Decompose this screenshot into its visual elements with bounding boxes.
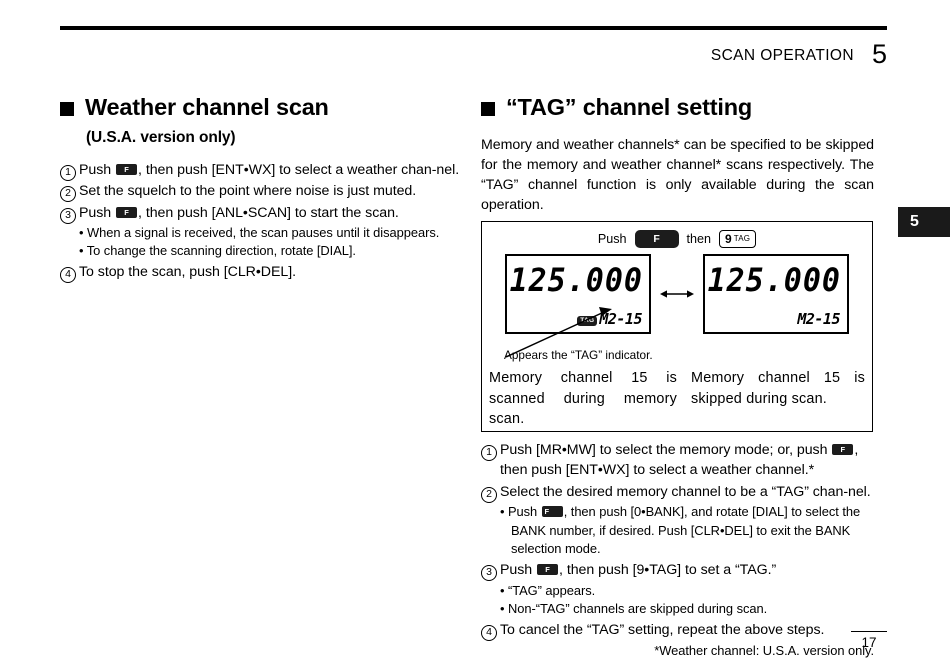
step-number: 1	[60, 162, 79, 182]
left-section-heading: Weather channel scan	[60, 95, 460, 121]
function-key-icon: F	[542, 506, 563, 517]
bullet-text-before: • Push	[500, 504, 541, 519]
page-header: SCAN OPERATION 5	[60, 38, 887, 65]
left-step-list: 1 Push F, then push [ENT•WX] to select a…	[60, 160, 460, 283]
list-item-bullet: • When a signal is received, the scan pa…	[79, 224, 460, 242]
step-number: 3	[481, 562, 500, 582]
step-number: 2	[481, 484, 500, 504]
footnote: *Weather channel: U.S.A. version only.	[481, 643, 874, 658]
right-column: “TAG” channel setting Memory and weather…	[481, 95, 874, 215]
step-text-before: Push	[79, 205, 115, 221]
list-item-bullet: • Non-“TAG” channels are skipped during …	[500, 600, 874, 618]
step-text-after: , then push [9•TAG] to set a “TAG.”	[559, 562, 776, 578]
list-item: 2 Set the squelch to the point where noi…	[60, 181, 460, 201]
header-chapter-number: 5	[872, 41, 887, 68]
manual-page: SCAN OPERATION 5 5 Weather channel scan …	[0, 0, 950, 672]
step-text: To cancel the “TAG” setting, repeat the …	[500, 620, 874, 640]
step-text: Select the desired memory channel to be …	[500, 482, 874, 502]
left-heading-text: Weather channel scan	[85, 95, 329, 121]
function-key-icon: F	[832, 444, 853, 455]
square-bullet-icon	[60, 102, 74, 116]
list-item: 2 Select the desired memory channel to b…	[481, 482, 874, 502]
step-text-after: , then push [ENT•WX] to select a weather…	[138, 162, 459, 178]
right-section-heading: “TAG” channel setting	[481, 95, 874, 121]
step-text: Push F, then push [ANL•SCAN] to start th…	[79, 203, 460, 223]
step-number: 2	[60, 183, 79, 203]
step-text: Push F, then push [9•TAG] to set a “TAG.…	[500, 560, 874, 580]
step-text-before: Push	[500, 562, 536, 578]
list-item: 1 Push [MR•MW] to select the memory mode…	[481, 440, 874, 481]
step-text-before: Push	[79, 162, 115, 178]
right-step-list: 1 Push [MR•MW] to select the memory mode…	[481, 440, 874, 658]
step-number: 4	[60, 264, 79, 284]
step-text-before: Push [MR•MW] to select the memory mode; …	[500, 442, 831, 458]
page-number-rule	[851, 631, 887, 632]
page-number-block: 17	[851, 631, 887, 650]
right-heading-text: “TAG” channel setting	[506, 95, 752, 121]
bullet-text-after: , then push [0•BANK], and rotate [DIAL] …	[511, 504, 860, 556]
list-item-bullet: • Push F, then push [0•BANK], and rotate…	[511, 503, 874, 558]
list-item-bullet: • “TAG” appears.	[500, 582, 874, 600]
list-item: 4 To stop the scan, push [CLR•DEL].	[60, 262, 460, 282]
list-item: 3 Push F, then push [9•TAG] to set a “TA…	[481, 560, 874, 580]
step-text: To stop the scan, push [CLR•DEL].	[79, 262, 460, 282]
caption-left: Memory channel 15 is scanned during memo…	[489, 368, 677, 430]
function-key-icon: F	[116, 207, 137, 218]
illustration-captions: Memory channel 15 is scanned during memo…	[482, 368, 872, 430]
step-text: Set the squelch to the point where noise…	[79, 181, 460, 201]
list-item: 4 To cancel the “TAG” setting, repeat th…	[481, 620, 874, 640]
header-rule	[60, 26, 887, 30]
caption-right: Memory channel 15 is skipped during scan…	[677, 368, 865, 430]
step-number: 4	[481, 622, 500, 642]
chapter-tab: 5	[898, 207, 950, 237]
right-intro-paragraph: Memory and weather channels* can be spec…	[481, 135, 874, 216]
list-item: 3 Push F, then push [ANL•SCAN] to start …	[60, 203, 460, 223]
step-text: Push F, then push [ENT•WX] to select a w…	[79, 160, 460, 180]
left-subheading: (U.S.A. version only)	[86, 129, 460, 147]
square-bullet-icon	[481, 102, 495, 116]
illustration-box: Push F then 9 TAG 125.000 TAG M2-15	[481, 221, 873, 432]
function-key-icon: F	[537, 564, 558, 575]
list-item-bullet: • To change the scanning direction, rota…	[79, 242, 460, 260]
page-number: 17	[851, 635, 887, 650]
step-text-after: , then push [ANL•SCAN] to start the scan…	[138, 205, 399, 221]
list-item: 1 Push F, then push [ENT•WX] to select a…	[60, 160, 460, 180]
left-column: Weather channel scan (U.S.A. version onl…	[60, 95, 460, 284]
chapter-tab-label: 5	[910, 213, 919, 231]
function-key-icon: F	[116, 164, 137, 175]
step-number: 1	[481, 442, 500, 483]
callout-text: Appears the “TAG” indicator.	[504, 348, 653, 362]
header-title: SCAN OPERATION	[711, 47, 854, 65]
step-text: Push [MR•MW] to select the memory mode; …	[500, 440, 874, 481]
step-number: 3	[60, 205, 79, 225]
